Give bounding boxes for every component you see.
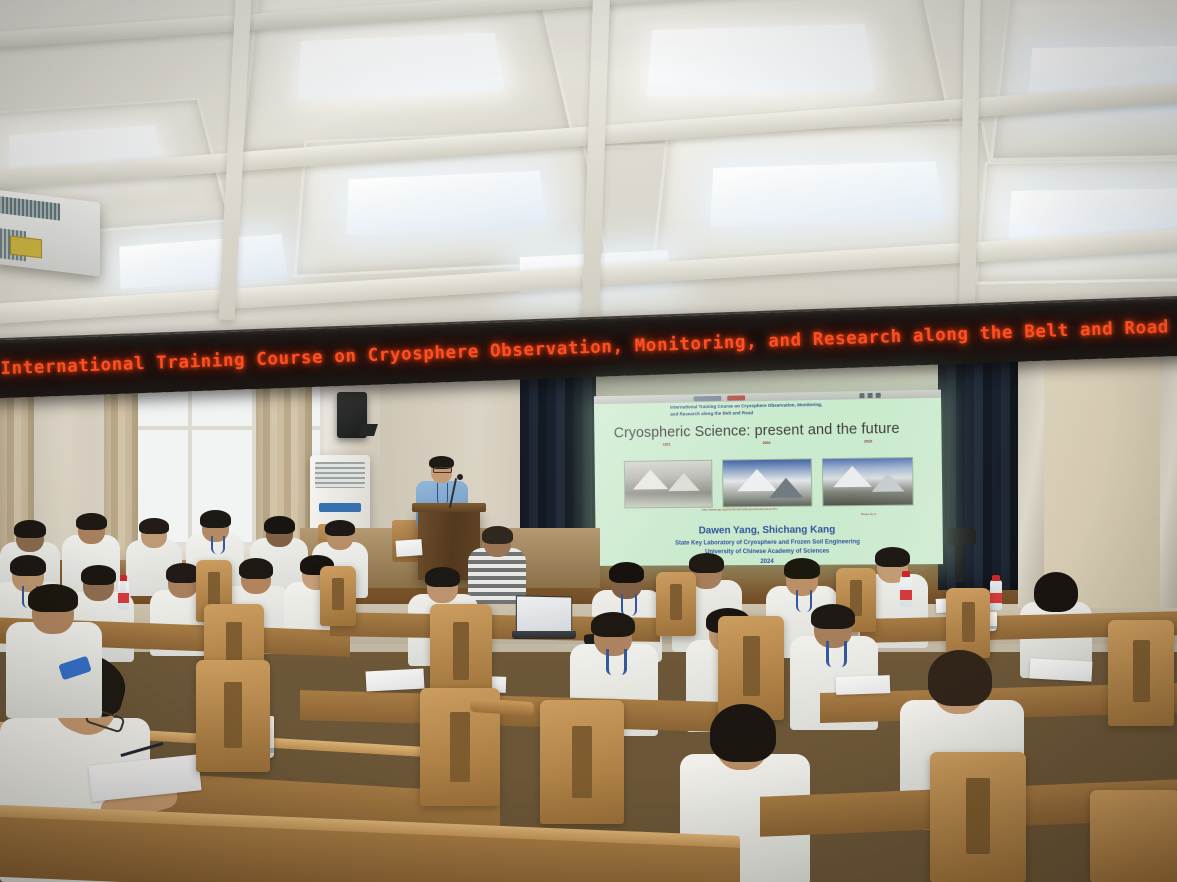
camera-stand bbox=[955, 540, 964, 582]
slide-title: Cryospheric Science: present and the fut… bbox=[614, 420, 923, 441]
paper-sheet bbox=[1030, 658, 1093, 681]
glacier-photo-2002 bbox=[722, 458, 812, 507]
paper-sheet bbox=[366, 668, 425, 691]
ceiling-projector bbox=[0, 189, 100, 276]
slide-author: Dawen Yang, Shichang Kang bbox=[595, 524, 942, 538]
stage-curtain-right bbox=[938, 358, 1020, 590]
glacier-photo-1921 bbox=[624, 460, 713, 509]
ceiling-light-panel bbox=[119, 234, 287, 289]
projector-label bbox=[10, 235, 42, 258]
ceiling-light-panel bbox=[647, 24, 875, 97]
microphone-icon bbox=[457, 474, 463, 480]
photo-year-label: 2002 bbox=[723, 440, 811, 445]
laptop-base bbox=[512, 631, 576, 639]
laptop-screen bbox=[516, 595, 572, 634]
wall-pillar bbox=[1018, 358, 1044, 608]
water-bottle bbox=[900, 576, 912, 607]
ceiling-light-panel bbox=[298, 33, 504, 100]
glasses-icon bbox=[433, 467, 452, 473]
photo-credit: Photo by C. bbox=[825, 512, 914, 517]
slide-header: International Training Course on Cryosph… bbox=[670, 401, 870, 418]
ceiling bbox=[0, 0, 1177, 340]
projection-screen: International Training Course on Cryosph… bbox=[594, 390, 943, 566]
photo-year-label: 2023 bbox=[824, 439, 913, 444]
ceiling-light-panel bbox=[710, 161, 944, 226]
ceiling-light-panel bbox=[347, 171, 548, 235]
paper-sheet bbox=[836, 675, 891, 695]
glacier-photo-set bbox=[624, 457, 914, 506]
photo-year-label: 1921 bbox=[624, 442, 710, 447]
paper-sheet bbox=[395, 539, 422, 557]
glacier-photo-2023 bbox=[822, 457, 914, 506]
water-bottle bbox=[118, 580, 129, 610]
lecture-hall-photo: International Training Course on Cryosph… bbox=[0, 0, 1177, 882]
water-bottle bbox=[990, 580, 1002, 610]
